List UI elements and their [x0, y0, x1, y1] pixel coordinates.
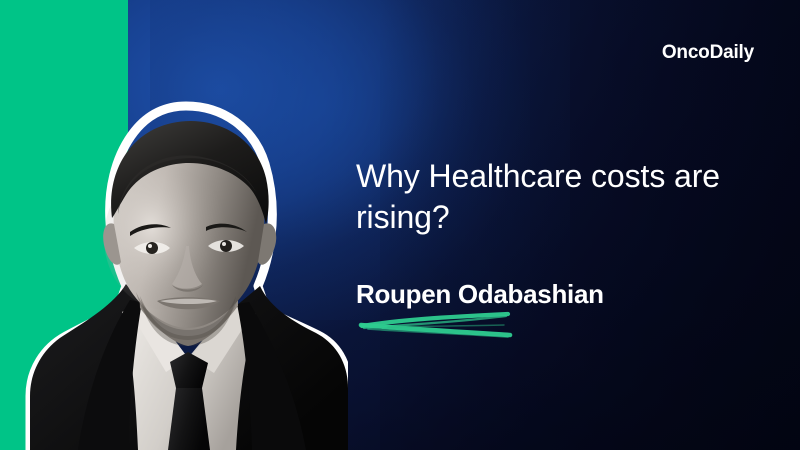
eye-left-iris	[146, 242, 158, 254]
speaker-name: Roupen Odabashian	[356, 280, 656, 309]
video-thumbnail-slide: OncoDaily	[0, 0, 800, 450]
slide-title: Why Healthcare costs are rising?	[356, 156, 746, 238]
eye-left-glint	[148, 244, 152, 248]
speaker-portrait	[18, 96, 348, 450]
eye-right-iris	[220, 240, 232, 252]
speaker-block: Roupen Odabashian	[356, 280, 656, 309]
brand-logo: OncoDaily	[662, 42, 754, 64]
slide-text-block: Why Healthcare costs are rising? Roupen …	[356, 156, 746, 309]
eye-right-glint	[222, 242, 226, 246]
green-brush-underline	[358, 308, 523, 342]
